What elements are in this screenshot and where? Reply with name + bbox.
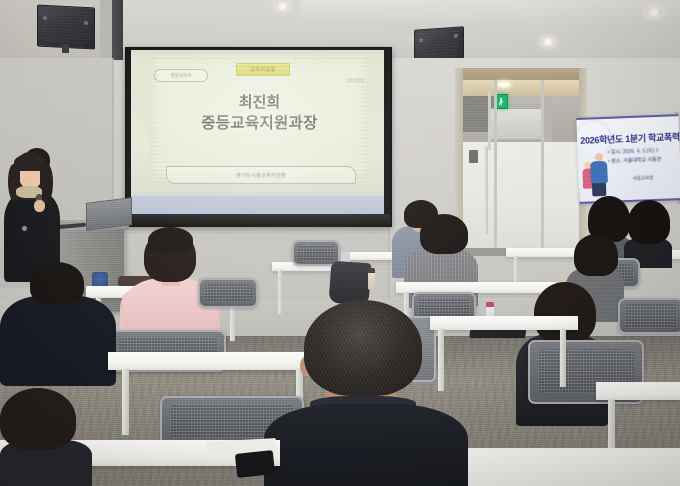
corridor-ceiling bbox=[463, 80, 579, 96]
door-mullion bbox=[494, 80, 497, 254]
ceiling-speaker-icon bbox=[37, 4, 95, 49]
hand bbox=[34, 200, 45, 212]
chair-mesh bbox=[204, 284, 252, 302]
chair-mesh bbox=[297, 245, 335, 261]
ceiling-downlight-icon bbox=[276, 3, 289, 10]
table-leg bbox=[122, 369, 129, 435]
projector-glow bbox=[131, 50, 384, 214]
hair bbox=[628, 200, 670, 244]
speaker-grill bbox=[42, 10, 89, 44]
ceiling-downlight-icon bbox=[646, 8, 662, 17]
chair[interactable] bbox=[198, 278, 258, 308]
speaker-mount bbox=[62, 44, 69, 53]
table-leg bbox=[560, 329, 566, 387]
banner-title: 2026학년도 1분기 학교폭력 bbox=[580, 130, 680, 147]
hair bbox=[30, 262, 84, 304]
door-mullion bbox=[541, 80, 544, 254]
corridor-downlight-icon bbox=[498, 82, 510, 87]
hair bbox=[574, 234, 618, 276]
hair-top bbox=[148, 227, 193, 253]
torso bbox=[0, 296, 116, 386]
ceiling-beam-dark bbox=[112, 0, 123, 62]
table bbox=[596, 382, 680, 400]
banner-organization: 서울교육청 bbox=[633, 175, 654, 182]
foreground-attendee bbox=[264, 300, 468, 486]
banner-detail-date: • 일시: 2026. 4. 1.(수) 1 bbox=[608, 147, 659, 156]
banner-figure-legs bbox=[592, 182, 607, 197]
banner-figure-body bbox=[590, 161, 608, 184]
draped-jacket bbox=[329, 261, 372, 306]
chair[interactable] bbox=[618, 298, 680, 334]
screen-bottom-lip bbox=[125, 214, 390, 225]
door-frosted-panel bbox=[463, 142, 579, 254]
attendee-bottom-left-edge bbox=[0, 388, 92, 486]
running-man-glyph bbox=[499, 98, 503, 106]
bottle-cap bbox=[368, 268, 375, 273]
speaker-knob bbox=[84, 21, 88, 25]
water-bottle bbox=[368, 272, 375, 290]
torso bbox=[264, 404, 468, 486]
bottle-cap bbox=[486, 302, 494, 307]
ceiling-downlight-icon bbox=[541, 38, 555, 46]
attendee-back-right-b bbox=[624, 200, 672, 264]
name-badge bbox=[22, 226, 27, 231]
ceiling-soffit bbox=[300, 0, 680, 26]
table-foreground bbox=[462, 448, 680, 486]
screen-lower-band bbox=[131, 196, 384, 214]
door-card-reader[interactable] bbox=[469, 150, 478, 163]
door-handle-upper[interactable] bbox=[488, 92, 491, 150]
hair bbox=[420, 214, 468, 254]
corridor-window bbox=[490, 108, 542, 140]
banner-detail-place: • 장소: 서울대학교 사동관 bbox=[608, 156, 662, 165]
door-header-panel bbox=[455, 68, 587, 80]
smartphone[interactable] bbox=[235, 450, 275, 478]
event-banner: 2026학년도 1분기 학교폭력 • 일시: 2026. 4. 1.(수) 1 … bbox=[576, 114, 680, 204]
speaker-knob bbox=[43, 16, 47, 20]
door-handle[interactable] bbox=[484, 146, 488, 234]
hair-texture bbox=[304, 300, 422, 396]
laptop-screen[interactable] bbox=[86, 197, 132, 231]
hair bbox=[0, 388, 76, 450]
lecture-hall-photo: 2026학년도 1분기 학교폭력 • 일시: 2026. 4. 1.(수) 1 … bbox=[0, 0, 680, 486]
attendee-left-dark-suit bbox=[0, 262, 116, 382]
chair-mesh bbox=[625, 304, 677, 328]
